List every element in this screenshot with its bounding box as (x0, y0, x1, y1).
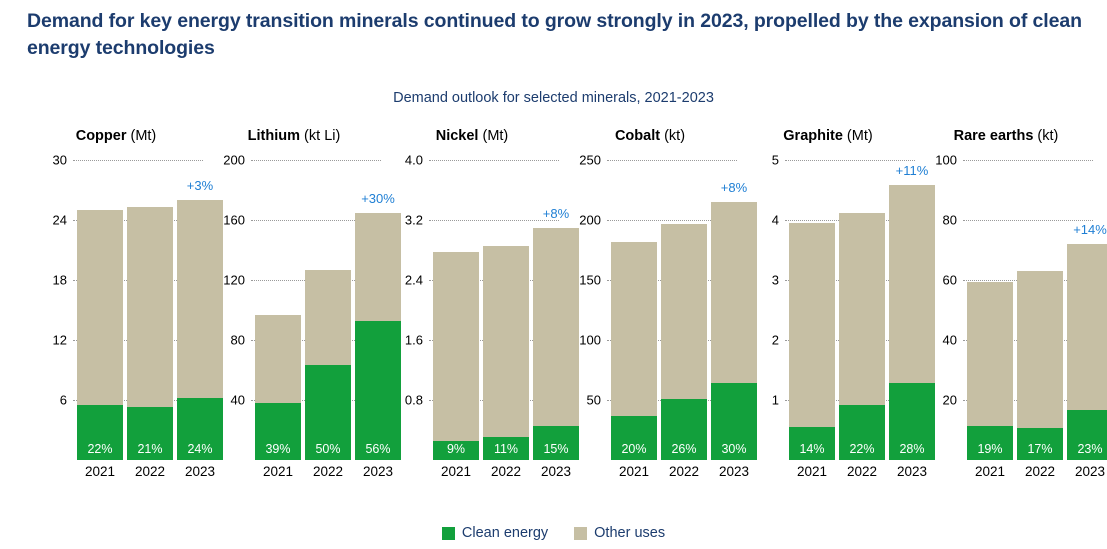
bar-segment-clean-energy[interactable]: 20% (611, 416, 657, 460)
bar-segment-clean-energy[interactable]: 11% (483, 437, 529, 460)
bars-container: 19%17%23%+14% (917, 160, 1095, 460)
panel-cobalt: Cobalt (kt)5010015020025020%26%30%+8%202… (561, 128, 739, 508)
bars-container: 9%11%15%+8% (383, 160, 561, 460)
bar-segment-clean-energy[interactable]: 26% (661, 399, 707, 460)
bar-segment-other-uses[interactable] (1067, 244, 1107, 410)
bar-stack[interactable]: 50% (305, 270, 351, 461)
panel-mineral-name: Cobalt (615, 128, 660, 144)
x-tick-label: 2021 (789, 464, 835, 479)
chart-subtitle: Demand outlook for selected minerals, 20… (0, 90, 1107, 106)
bar-stack[interactable]: 17% (1017, 271, 1063, 460)
bar-segment-other-uses[interactable] (611, 242, 657, 417)
panel-title: Nickel (Mt) (383, 128, 561, 144)
chart-page: Demand for key energy transition mineral… (0, 0, 1107, 549)
x-tick-label: 2023 (1067, 464, 1107, 479)
legend-swatch (442, 527, 455, 540)
plot-area: 0.81.62.43.24.09%11%15%+8% (383, 160, 561, 460)
panel-unit: (kt Li) (300, 128, 340, 144)
x-tick-label: 2022 (483, 464, 529, 479)
bar-stack[interactable]: 39% (255, 315, 301, 461)
x-tick-label: 2022 (839, 464, 885, 479)
x-tick-label: 2021 (433, 464, 479, 479)
bar-segment-clean-energy[interactable]: 21% (127, 407, 173, 460)
x-tick-label: 2022 (661, 464, 707, 479)
plot-area: 1234514%22%28%+11% (739, 160, 917, 460)
x-tick-label: 2021 (967, 464, 1013, 479)
clean-energy-share-label: 9% (433, 442, 479, 456)
legend-clean-energy[interactable]: Clean energy (442, 525, 548, 541)
clean-energy-share-label: 21% (127, 442, 173, 456)
bar-segment-clean-energy[interactable]: 14% (789, 427, 835, 460)
x-axis-labels: 202120222023 (739, 464, 917, 486)
bar-stack[interactable]: 22% (77, 210, 123, 460)
bar-segment-clean-energy[interactable]: 19% (967, 426, 1013, 460)
bar-segment-clean-energy[interactable]: 22% (839, 405, 885, 460)
x-axis-labels: 202120222023 (561, 464, 739, 486)
clean-energy-share-label: 22% (77, 442, 123, 456)
bar-segment-clean-energy[interactable]: 39% (255, 403, 301, 460)
bar-stack[interactable]: 23% (1067, 244, 1107, 460)
x-axis-labels: 202120222023 (27, 464, 205, 486)
clean-energy-share-label: 11% (483, 442, 529, 456)
bars-container: 22%21%24%+3% (27, 160, 205, 460)
bar-segment-other-uses[interactable] (789, 223, 835, 427)
panel-mineral-name: Rare earths (954, 128, 1034, 144)
panel-mineral-name: Lithium (248, 128, 300, 144)
panel-unit: (kt) (660, 128, 685, 144)
bar-stack[interactable]: 14% (789, 223, 835, 460)
plot-area: 61218243022%21%24%+3% (27, 160, 205, 460)
clean-energy-share-label: 17% (1017, 442, 1063, 456)
clean-energy-share-label: 39% (255, 442, 301, 456)
panel-rare-earths: Rare earths (kt)2040608010019%17%23%+14%… (917, 128, 1095, 508)
panel-nickel: Nickel (Mt)0.81.62.43.24.09%11%15%+8%202… (383, 128, 561, 508)
x-axis-labels: 202120222023 (383, 464, 561, 486)
panel-mineral-name: Copper (76, 128, 127, 144)
bar-stack[interactable]: 11% (483, 246, 529, 461)
bar-segment-other-uses[interactable] (661, 224, 707, 399)
bar-stack[interactable]: 20% (611, 242, 657, 460)
clean-energy-share-label: 14% (789, 442, 835, 456)
bar-segment-other-uses[interactable] (839, 213, 885, 406)
bar-segment-other-uses[interactable] (127, 207, 173, 407)
bar-segment-other-uses[interactable] (433, 252, 479, 442)
panel-title: Graphite (Mt) (739, 128, 917, 144)
bar-stack[interactable]: 21% (127, 207, 173, 460)
x-tick-label: 2022 (1017, 464, 1063, 479)
x-tick-label: 2022 (305, 464, 351, 479)
bar-segment-clean-energy[interactable]: 17% (1017, 428, 1063, 460)
panels-container: Copper (Mt)61218243022%21%24%+3%20212022… (0, 128, 1107, 508)
panel-copper: Copper (Mt)61218243022%21%24%+3%20212022… (27, 128, 205, 508)
bar-segment-other-uses[interactable] (255, 315, 301, 404)
clean-energy-share-label: 22% (839, 442, 885, 456)
panel-unit: (kt) (1033, 128, 1058, 144)
x-axis-labels: 202120222023 (205, 464, 383, 486)
chart-legend: Clean energyOther uses (0, 525, 1107, 541)
plot-area: 408012016020039%50%56%+30% (205, 160, 383, 460)
bar-stack[interactable]: 22% (839, 213, 885, 460)
panel-title: Cobalt (kt) (561, 128, 739, 144)
x-tick-label: 2021 (77, 464, 123, 479)
bar-stack[interactable]: 19% (967, 282, 1013, 461)
legend-other-uses[interactable]: Other uses (574, 525, 665, 541)
panel-mineral-name: Nickel (436, 128, 479, 144)
panel-lithium: Lithium (kt Li)408012016020039%50%56%+30… (205, 128, 383, 508)
bar-stack[interactable]: 26% (661, 224, 707, 460)
bar-segment-clean-energy[interactable]: 22% (77, 405, 123, 460)
x-tick-label: 2021 (255, 464, 301, 479)
growth-annotation: +14% (1061, 222, 1107, 237)
panel-title: Copper (Mt) (27, 128, 205, 144)
panel-unit: (Mt) (843, 128, 873, 144)
page-title: Demand for key energy transition mineral… (27, 8, 1087, 61)
panel-unit: (Mt) (478, 128, 508, 144)
clean-energy-share-label: 26% (661, 442, 707, 456)
clean-energy-share-label: 20% (611, 442, 657, 456)
bar-segment-other-uses[interactable] (305, 270, 351, 365)
plot-area: 5010015020025020%26%30%+8% (561, 160, 739, 460)
bars-container: 14%22%28%+11% (739, 160, 917, 460)
legend-label: Clean energy (462, 525, 548, 541)
x-axis-labels: 202120222023 (917, 464, 1095, 486)
legend-swatch (574, 527, 587, 540)
panel-title: Lithium (kt Li) (205, 128, 383, 144)
bar-segment-other-uses[interactable] (483, 246, 529, 437)
bars-container: 39%50%56%+30% (205, 160, 383, 460)
clean-energy-share-label: 19% (967, 442, 1013, 456)
legend-label: Other uses (594, 525, 665, 541)
bars-container: 20%26%30%+8% (561, 160, 739, 460)
panel-mineral-name: Graphite (783, 128, 843, 144)
panel-unit: (Mt) (126, 128, 156, 144)
bar-stack[interactable]: 9% (433, 252, 479, 461)
clean-energy-share-label: 50% (305, 442, 351, 456)
clean-energy-share-label: 23% (1067, 442, 1107, 456)
panel-graphite: Graphite (Mt)1234514%22%28%+11%202120222… (739, 128, 917, 508)
x-tick-label: 2021 (611, 464, 657, 479)
x-tick-label: 2022 (127, 464, 173, 479)
panel-title: Rare earths (kt) (917, 128, 1095, 144)
bar-segment-other-uses[interactable] (967, 282, 1013, 427)
plot-area: 2040608010019%17%23%+14% (917, 160, 1095, 460)
bar-segment-other-uses[interactable] (1017, 271, 1063, 428)
bar-segment-clean-energy[interactable]: 9% (433, 441, 479, 460)
bar-segment-clean-energy[interactable]: 23% (1067, 410, 1107, 460)
bar-segment-clean-energy[interactable]: 50% (305, 365, 351, 460)
bar-segment-other-uses[interactable] (77, 210, 123, 405)
